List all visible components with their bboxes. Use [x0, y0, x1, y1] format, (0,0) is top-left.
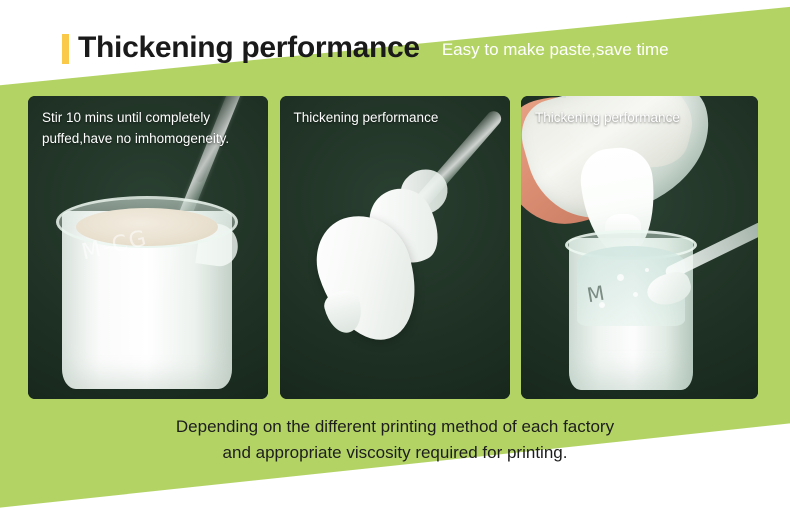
bubble-icon	[599, 302, 605, 308]
panel-caption-1: Stir 10 mins until completely puffed,hav…	[42, 108, 258, 150]
bubble-icon	[617, 274, 624, 281]
photo-panel-paste-on-rod: Thickening performance	[280, 96, 510, 399]
page-subtitle: Easy to make paste,save time	[442, 40, 669, 60]
footer-line-1: Depending on the different printing meth…	[0, 414, 790, 440]
page-title: Thickening performance	[78, 33, 420, 63]
product-infographic-page: Thickening performance Easy to make past…	[0, 0, 790, 526]
photo-panel-pouring: M Thickening performance	[521, 96, 758, 399]
panel-caption-3: Thickening performance	[535, 108, 748, 129]
footer-line-2: and appropriate viscosity required for p…	[0, 440, 790, 466]
page-header: Thickening performance Easy to make past…	[62, 33, 669, 63]
bubble-icon	[633, 292, 638, 297]
footer-note: Depending on the different printing meth…	[0, 414, 790, 466]
photo-panel-stirring: M-CG Stir 10 mins until completely puffe…	[28, 96, 268, 399]
photo-pouring-paste: M	[521, 96, 758, 399]
panel-caption-2: Thickening performance	[294, 108, 500, 129]
bubble-icon	[645, 268, 649, 272]
title-accent-bar	[62, 34, 69, 64]
photo-panel-row: M-CG Stir 10 mins until completely puffe…	[28, 96, 758, 399]
photo-paste-rod	[280, 96, 510, 399]
